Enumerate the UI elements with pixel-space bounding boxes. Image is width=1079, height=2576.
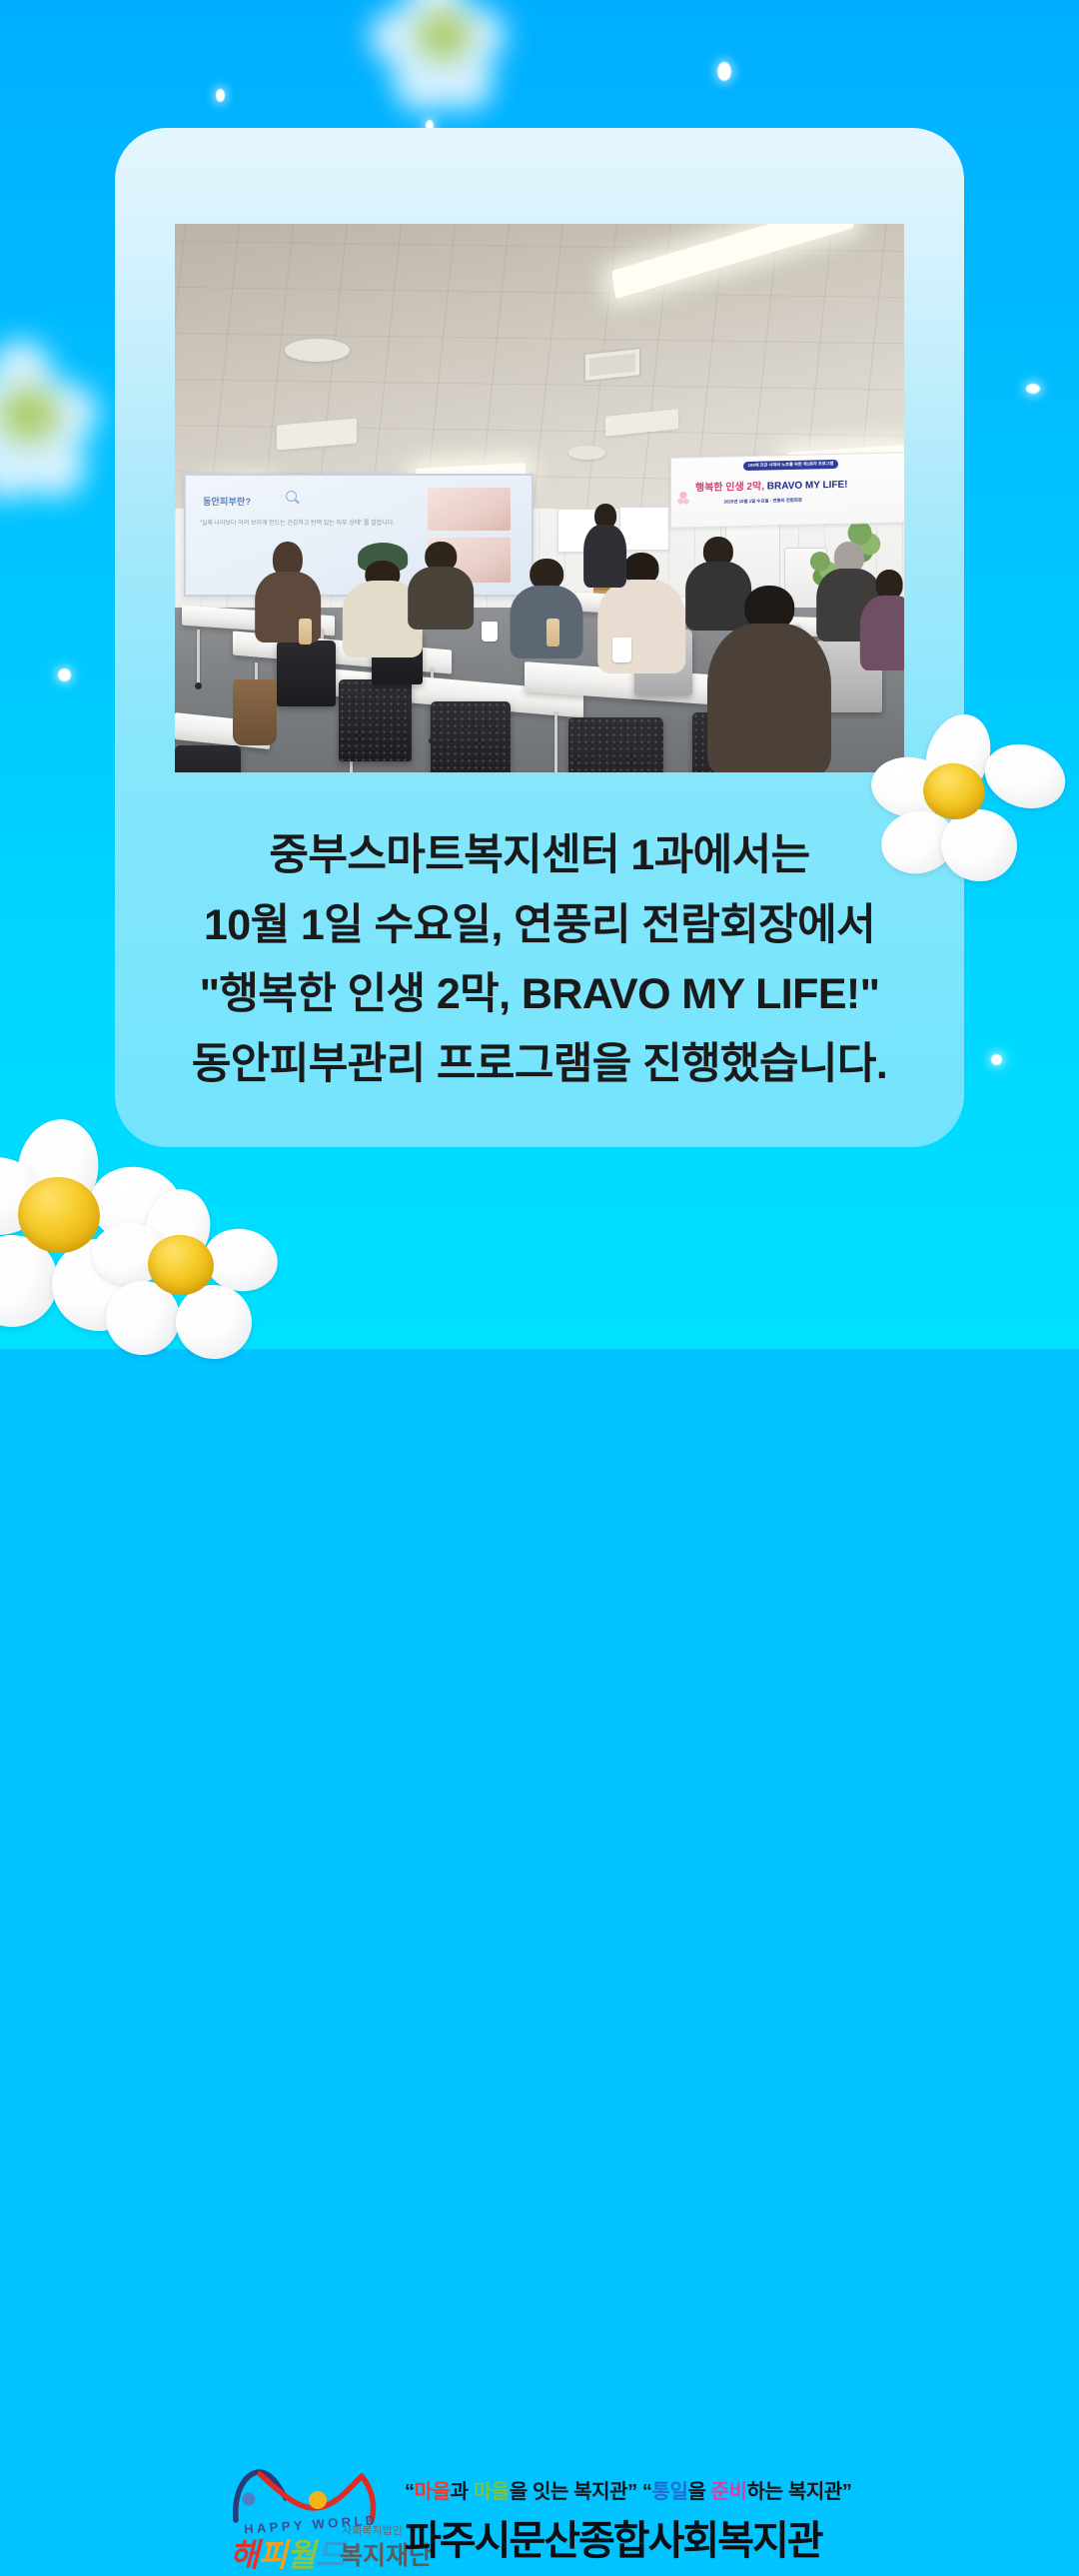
sparkle-dot: [1026, 384, 1040, 394]
happy-world-logo: HAPPY WORLD 해피월드 사회복지법인 복지재단: [222, 2468, 412, 2568]
banner-flower-icon: [676, 489, 690, 509]
classroom-chair: [339, 679, 412, 761]
decor-flower-right: [865, 713, 1065, 903]
classroom-chair: [277, 641, 335, 706]
slogan-part-2: 과: [451, 2481, 474, 2503]
slide-image: [428, 488, 511, 531]
drink-bottle: [299, 619, 312, 644]
sparkle-dot: [58, 668, 71, 681]
headline-line-3: "행복한 인생 2막, BRAVO MY LIFE!": [0, 960, 1079, 1030]
slogan-part-5: 통일: [652, 2481, 688, 2503]
table-leg: [197, 630, 200, 684]
slogan-part-1: 마을: [415, 2481, 451, 2503]
attendee: [860, 570, 904, 668]
footer: HAPPY WORLD 해피월드 사회복지법인 복지재단 “마을과 마을을 잇는…: [0, 1231, 1079, 1349]
organization-name: 파주시문산종합사회복지관: [405, 2508, 822, 2566]
table-leg: [554, 712, 557, 772]
sparkle-dot: [216, 89, 225, 102]
classroom-chair: [568, 717, 663, 772]
magnifier-icon: [286, 491, 297, 502]
drink-bottle: [546, 619, 559, 645]
banner-tag: 100세 건강 시대의 노후를 위한 제1회차 프로그램: [743, 459, 839, 470]
slogan-part-6: 을: [688, 2481, 711, 2503]
banner-subtitle: 2025년 10월 1일 수요일 · 연풍리 전람회장: [724, 497, 802, 505]
ceiling-speaker: [568, 446, 605, 459]
attendee-foreground: [707, 586, 831, 772]
sparkle-dot: [717, 62, 731, 81]
handbag: [233, 679, 277, 745]
background-flower-left: [0, 340, 118, 510]
paper-cup: [482, 622, 498, 642]
attendee: [409, 542, 475, 630]
slide-title: 동안피부란?: [203, 495, 251, 508]
slide-body: "실제 나이보다 어려 보이게 만드는 건강하고 탄력 있는 피부 상태" 를 …: [200, 519, 401, 530]
banner-main-title: 행복한 인생 2막, BRAVO MY LIFE!: [695, 475, 848, 493]
quote-close: ”: [627, 2481, 637, 2503]
logo-brand-text: 해피월드: [230, 2530, 344, 2576]
quote-open-2: “: [642, 2481, 652, 2503]
background-flower-top: [370, 0, 520, 116]
quote-close-2: ”: [842, 2481, 852, 2503]
slogan-part-4: 을 잇는 복지관: [510, 2481, 627, 2503]
program-banner: 100세 건강 시대의 노후를 위한 제1회차 프로그램 행복한 인생 2막, …: [670, 452, 904, 529]
event-photo: 동안피부란? "실제 나이보다 어려 보이게 만드는 건강하고 탄력 있는 피부…: [175, 224, 904, 772]
slogan-part-8: 하는 복지관: [747, 2481, 842, 2503]
slogan-part-7: 준비: [711, 2481, 747, 2503]
wall-frame: [619, 507, 669, 551]
paper-cup: [612, 638, 631, 661]
presenter: [583, 504, 627, 586]
classroom-chair: [431, 701, 511, 772]
headline-line-4: 동안피부관리 프로그램을 진행했습니다.: [0, 1030, 1079, 1100]
slogan-part-3: 마을: [474, 2481, 510, 2503]
quote-open: “: [405, 2481, 415, 2503]
footer-slogan: “마을과 마을을 잇는 복지관” “통일을 준비하는 복지관”: [405, 2475, 851, 2504]
classroom-chair: [175, 745, 241, 772]
